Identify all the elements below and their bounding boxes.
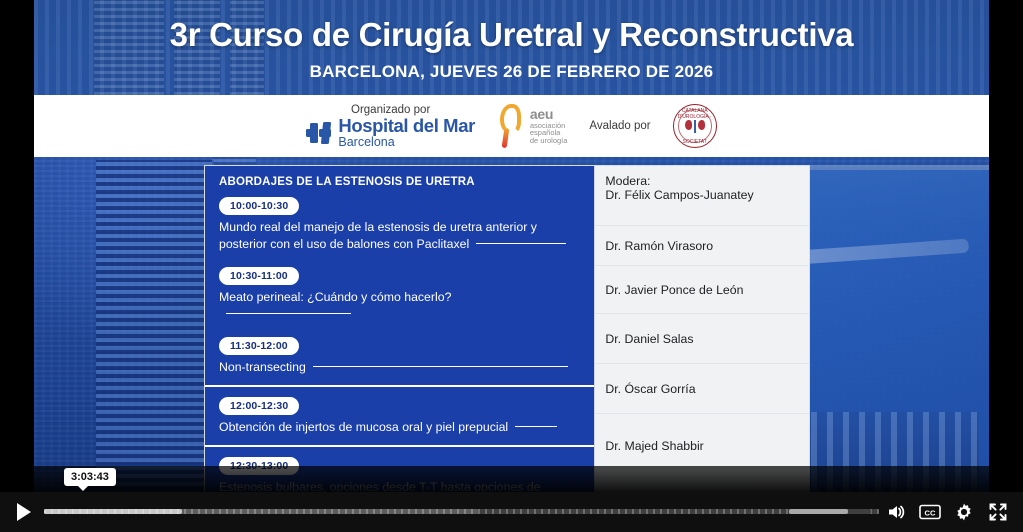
fullscreen-icon (988, 502, 1008, 522)
event-subtitle: BARCELONA, JUEVES 26 DE FEBRERO DE 2026 (34, 62, 989, 82)
schedule-sessions-column: ABORDAJES DE LA ESTENOSIS DE URETRA 10:0… (205, 166, 594, 532)
slot-title: Mundo real del manejo de la estenosis de… (219, 219, 580, 253)
hospital-del-mar-logo: Hospital del Mar Barcelona (306, 117, 475, 149)
closed-captions-icon: CC (919, 504, 941, 520)
player-controls[interactable]: 3:03:43 CC (0, 492, 1023, 532)
endorsed-by-label: Avalado por (589, 120, 650, 132)
slot-title-text: Non-transecting (219, 360, 306, 374)
volume-icon (886, 502, 906, 522)
progress-bar[interactable]: 3:03:43 (44, 492, 879, 532)
slot-title: Obtención de injertos de mucosa oral y p… (219, 419, 580, 436)
speaker-cell: Dr. Javier Ponce de León (595, 266, 809, 314)
hospital-name: Hospital del Mar (338, 117, 475, 136)
right-controls-group[interactable]: CC (879, 492, 1023, 532)
slot-time: 10:00-10:30 (219, 197, 299, 215)
cross-icon (306, 120, 332, 146)
play-icon (17, 503, 31, 521)
speaker-cell: Dr. Majed Shabbir (595, 414, 809, 478)
schedule-speakers-column: Modera: Dr. Félix Campos-Juanatey Dr. Ra… (594, 166, 809, 532)
aeu-wordmark: aeu (530, 107, 568, 122)
moderator-label: Modera: (605, 174, 753, 188)
seal-bottom-text: · SOCIETAT · (674, 139, 716, 145)
aeu-logo: aeu asociación española de urología (497, 104, 568, 148)
time-tooltip: 3:03:43 (64, 468, 116, 486)
volume-level (789, 509, 848, 514)
organizer-block: Organizado por Hospital del Mar Barcelon… (306, 104, 475, 149)
play-button[interactable] (0, 492, 44, 532)
slot-time: 10:30-11:00 (219, 267, 299, 285)
event-banner: 3r Curso de Cirugía Uretral y Reconstruc… (34, 0, 989, 95)
schedule-table: ABORDAJES DE LA ESTENOSIS DE URETRA 10:0… (204, 165, 810, 532)
captions-button[interactable]: CC (913, 492, 947, 532)
building-tower (96, 160, 214, 490)
hospital-city: Barcelona (338, 136, 475, 149)
seal-emblem (685, 120, 705, 133)
slot-title-text: Obtención de injertos de mucosa oral y p… (219, 420, 508, 434)
slot-title: Meato perineal: ¿Cuándo y cómo hacerlo? (219, 289, 580, 323)
progress-chapter-marks (44, 509, 879, 514)
svg-text:CC: CC (925, 508, 936, 517)
schedule-slot: 10:00-10:30 Mundo real del manejo de la … (205, 192, 594, 262)
endorser-block: Avalado por (589, 120, 650, 133)
societat-catalana-urologia-seal: · CATALANA · D'UROLOGIA · · SOCIETAT · (673, 104, 717, 148)
schedule-slot: 11:30-12:00 Non-transecting (205, 332, 594, 385)
slot-time: 12:30-13:00 (219, 457, 299, 475)
moderator-cell: Modera: Dr. Félix Campos-Juanatey (595, 166, 809, 226)
slot-title-text: Meato perineal: ¿Cuándo y cómo hacerlo? (219, 290, 451, 304)
slot-title: Non-transecting (219, 359, 580, 376)
speaker-cell: Dr. Óscar Gorría (595, 364, 809, 414)
seal-top-text: · CATALANA · D'UROLOGIA · (674, 108, 716, 120)
settings-button[interactable] (947, 492, 981, 532)
gear-icon (954, 502, 974, 522)
video-player[interactable]: 3r Curso de Cirugía Uretral y Reconstruc… (0, 0, 1023, 532)
kidney-icon (497, 104, 525, 148)
slot-time: 12:00-12:30 (219, 397, 299, 415)
aeu-line-3: de urología (530, 137, 568, 145)
speaker-cell: Dr. Ramón Virasoro (595, 226, 809, 266)
organized-by-label: Organizado por (351, 104, 430, 116)
session-header: ABORDAJES DE LA ESTENOSIS DE URETRA (205, 166, 594, 192)
slot-time: 11:30-12:00 (219, 337, 299, 355)
volume-button[interactable] (879, 492, 913, 532)
slot-title-text: Mundo real del manejo de la estenosis de… (219, 220, 537, 251)
fullscreen-button[interactable] (981, 492, 1015, 532)
moderator-name: Dr. Félix Campos-Juanatey (605, 188, 753, 202)
video-frame: 3r Curso de Cirugía Uretral y Reconstruc… (34, 0, 989, 532)
schedule-slot: 12:00-12:30 Obtención de injertos de muc… (205, 385, 594, 445)
volume-slider[interactable] (789, 509, 871, 514)
speaker-cell: Dr. Daniel Salas (595, 314, 809, 364)
sponsor-band: Organizado por Hospital del Mar Barcelon… (34, 95, 989, 157)
page-title: 3r Curso de Cirugía Uretral y Reconstruc… (34, 16, 989, 54)
schedule-slot: 10:30-11:00 Meato perineal: ¿Cuándo y có… (205, 262, 594, 332)
